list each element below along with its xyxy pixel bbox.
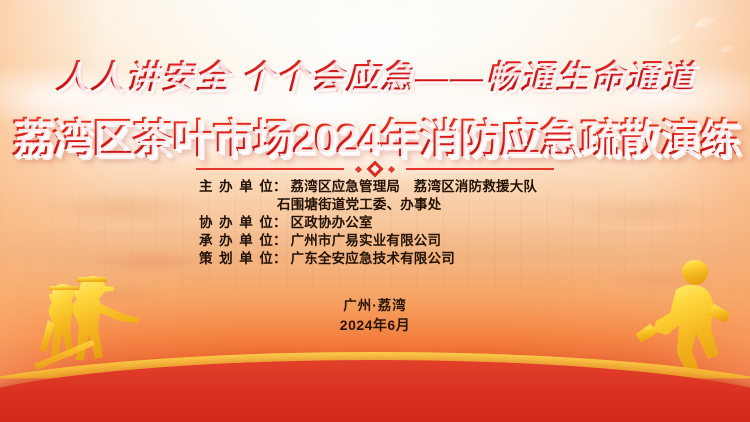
organizer-colon: ：: [273, 214, 287, 231]
page-title: 荔湾区茶叶市场2024年消防应急疏散演练: [0, 104, 750, 164]
organizer-label: 协办单位: [199, 214, 273, 231]
organizer-value: 石围塘街道党工委、办事处: [277, 196, 441, 213]
poster-content: 人人讲安全 个个会应急——畅通生命通道 荔湾区茶叶市场2024年消防应急疏散演练…: [0, 0, 750, 422]
organizer-row: 承办单位 ： 广州市广易实业有限公司: [199, 232, 551, 249]
organizer-row: 石围塘街道党工委、办事处: [199, 196, 551, 213]
organizer-row: 策划单位 ： 广东全安应急技术有限公司: [199, 250, 551, 267]
organizer-colon: ：: [273, 178, 287, 195]
place-date-block: 广州·荔湾 2024年6月: [0, 296, 750, 335]
ornament-dot-right: [388, 165, 395, 172]
diamond-ornament-icon: [354, 162, 396, 176]
organizer-row: 主办单位 ： 荔湾区应急管理局 荔湾区消防救援大队: [199, 178, 551, 195]
organizer-value: 广州市广易实业有限公司: [291, 232, 442, 249]
date-label: 2024年6月: [0, 315, 750, 335]
organizer-colon: ：: [273, 250, 287, 267]
organizer-label: 主办单位: [199, 178, 273, 195]
ornament-dot-left: [355, 165, 362, 172]
organizer-list: 主办单位 ： 荔湾区应急管理局 荔湾区消防救援大队 石围塘街道党工委、办事处 协…: [0, 178, 750, 268]
organizer-value: 广东全安应急技术有限公司: [291, 250, 455, 267]
organizer-colon: ：: [273, 232, 287, 249]
organizer-value: 区政协办公室: [291, 214, 373, 231]
organizer-label: 承办单位: [199, 232, 273, 249]
organizer-label: 策划单位: [199, 250, 273, 267]
main-title-text: 荔湾区茶叶市场2024年消防应急疏散演练: [11, 104, 738, 164]
organizer-value: 荔湾区应急管理局 荔湾区消防救援大队: [291, 178, 538, 195]
ornament-divider: [0, 162, 750, 176]
slogan-line: 人人讲安全 个个会应急——畅通生命通道: [0, 50, 750, 98]
divider-bar-right: [406, 168, 554, 170]
poster-canvas: 人人讲安全 个个会应急——畅通生命通道 荔湾区茶叶市场2024年消防应急疏散演练…: [0, 0, 750, 422]
city-label: 广州·荔湾: [0, 296, 750, 315]
organizer-row: 协办单位 ： 区政协办公室: [199, 214, 551, 231]
divider-bar-left: [196, 168, 344, 170]
slogan-text: 人人讲安全 个个会应急——畅通生命通道: [55, 50, 695, 98]
